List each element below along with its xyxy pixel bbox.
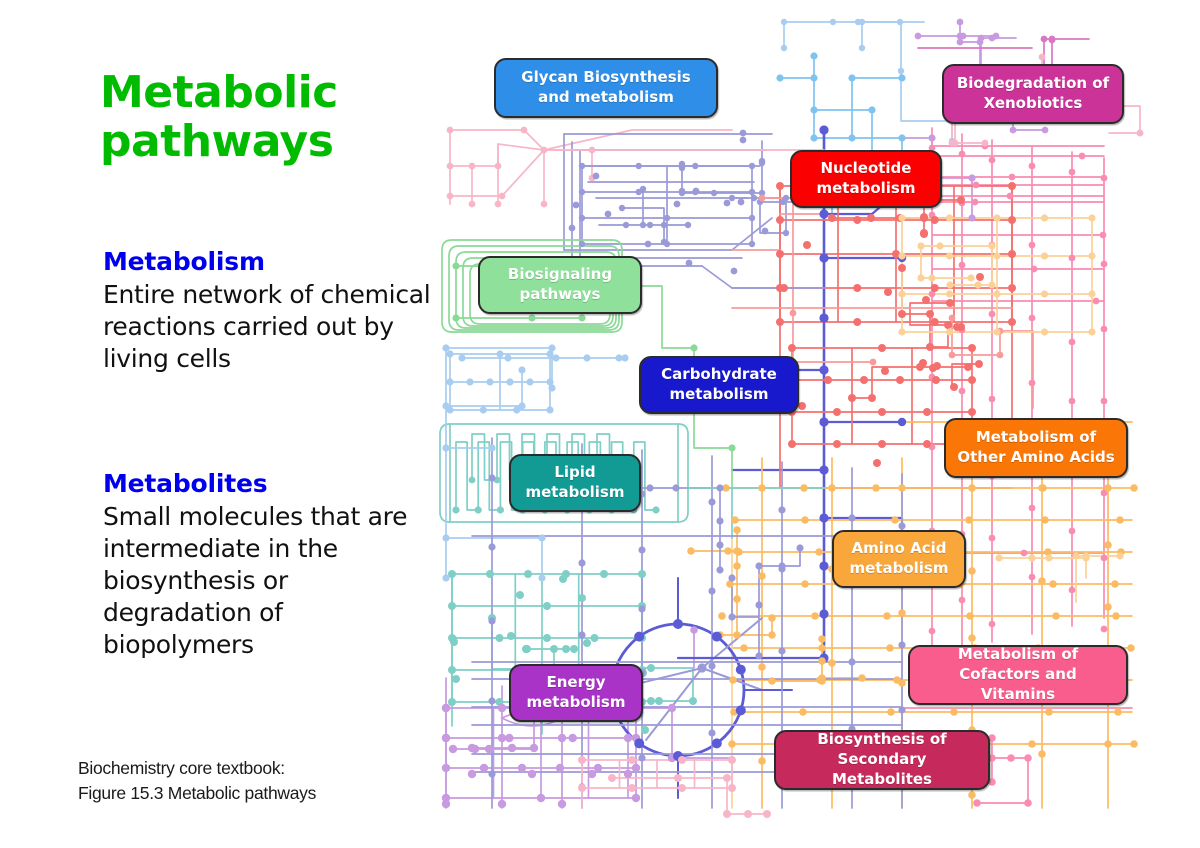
slide-root: Metabolic pathways Metabolism Entire net… bbox=[0, 0, 1200, 848]
pathway-label-cofactors-vitamins[interactable]: Metabolism of Cofactors and Vitamins bbox=[908, 645, 1128, 705]
page-title-line-2: pathways bbox=[100, 117, 420, 166]
pathway-label-nucleotide[interactable]: Nucleotide metabolism bbox=[790, 150, 942, 208]
section-metabolites-body: Small molecules that are intermediate in… bbox=[103, 501, 433, 661]
section-metabolism-heading: Metabolism bbox=[103, 248, 433, 277]
figure-caption-line-2: Figure 15.3 Metabolic pathways bbox=[78, 781, 418, 806]
figure-caption: Biochemistry core textbook: Figure 15.3 … bbox=[78, 756, 418, 807]
section-metabolites: Metabolites Small molecules that are int… bbox=[103, 470, 433, 661]
pathway-label-energy[interactable]: Energy metabolism bbox=[509, 664, 643, 722]
pathway-label-carbohydrate[interactable]: Carbohydrate metabolism bbox=[639, 356, 799, 414]
pathway-label-glycan[interactable]: Glycan Biosynthesis and metabolism bbox=[494, 58, 718, 118]
figure-caption-line-1: Biochemistry core textbook: bbox=[78, 756, 418, 781]
section-metabolism-body: Entire network of chemical reactions car… bbox=[103, 279, 433, 375]
pathway-label-lipid[interactable]: Lipid metabolism bbox=[509, 454, 641, 512]
pathway-label-biosignaling[interactable]: Biosignaling pathways bbox=[478, 256, 642, 314]
pathway-label-secondary-metabolites[interactable]: Biosynthesis of Secondary Metabolites bbox=[774, 730, 990, 790]
pathway-label-amino-acid[interactable]: Amino Acid metabolism bbox=[832, 530, 966, 588]
section-metabolism: Metabolism Entire network of chemical re… bbox=[103, 248, 433, 375]
text-column: Metabolic pathways Metabolism Entire net… bbox=[0, 0, 455, 848]
page-title: Metabolic pathways bbox=[100, 68, 420, 167]
section-metabolites-heading: Metabolites bbox=[103, 470, 433, 499]
pathway-label-biodegradation[interactable]: Biodegradation of Xenobiotics bbox=[942, 64, 1124, 124]
pathway-label-other-amino-acids[interactable]: Metabolism of Other Amino Acids bbox=[944, 418, 1128, 478]
metabolic-pathway-map: Glycan Biosynthesis and metabolismBiodeg… bbox=[432, 18, 1144, 818]
page-title-line-1: Metabolic bbox=[100, 68, 420, 117]
